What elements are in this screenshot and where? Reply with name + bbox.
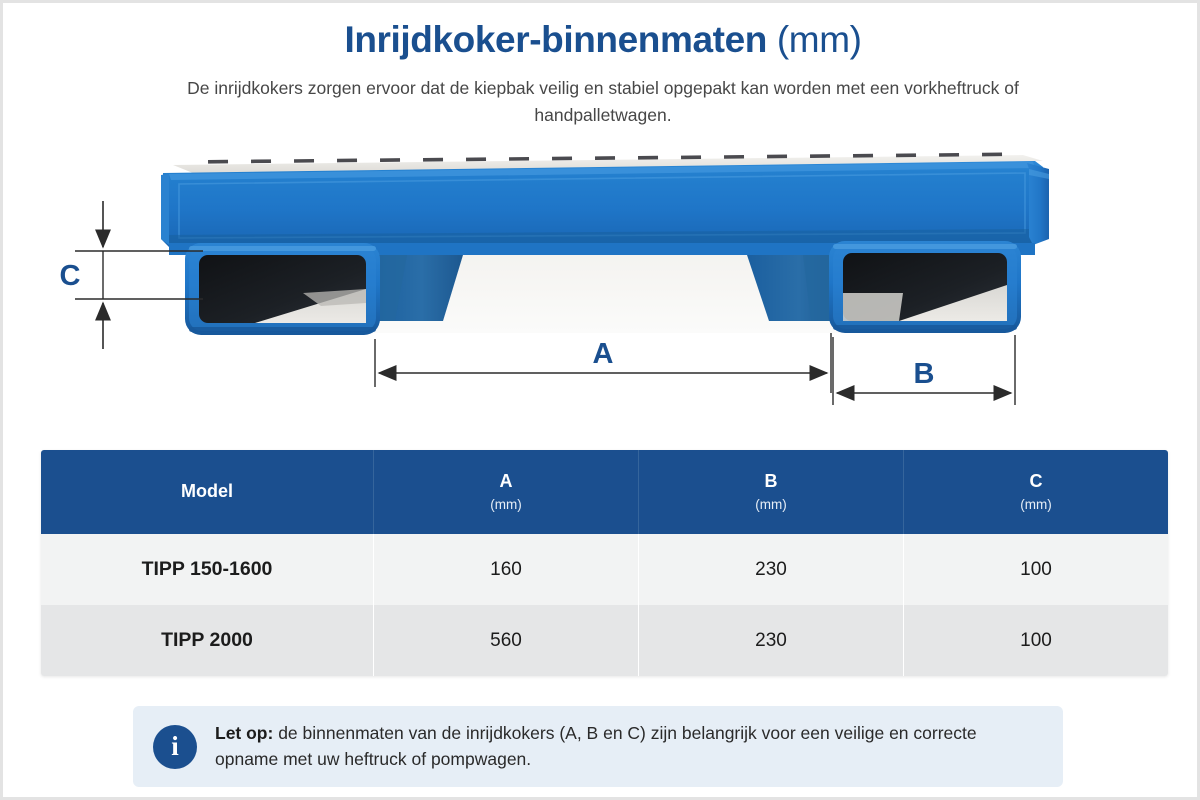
- cell-a: 160: [374, 534, 639, 605]
- page-title: Inrijdkoker-binnenmaten (mm): [3, 17, 1200, 63]
- table-body: TIPP 150-1600 160 230 100 TIPP 2000 560 …: [41, 534, 1168, 676]
- dimension-label-b: B: [914, 358, 935, 390]
- cell-model: TIPP 2000: [41, 605, 374, 676]
- table-header-row: Model A (mm) B (mm): [41, 450, 1168, 534]
- cell-model: TIPP 150-1600: [41, 534, 374, 605]
- info-note-text: Let op: de binnenmaten van de inrijdkoke…: [215, 721, 1041, 772]
- pallet-diagram-svg: C A B: [3, 143, 1200, 433]
- page-title-unit: (mm): [777, 19, 862, 60]
- fork-pocket-right: [829, 241, 1021, 333]
- column-header-a: A (mm): [374, 450, 639, 534]
- dimension-label-a: A: [593, 338, 614, 370]
- table-row: TIPP 2000 560 230 100: [41, 605, 1168, 676]
- infographic-page: Inrijdkoker-binnenmaten (mm) De inrijdko…: [0, 0, 1200, 800]
- cell-a: 560: [374, 605, 639, 676]
- header: Inrijdkoker-binnenmaten (mm) De inrijdko…: [3, 17, 1200, 128]
- dimensions-table: Model A (mm) B (mm): [41, 450, 1168, 676]
- column-header-model-label: Model: [181, 481, 233, 502]
- pallet-diagram: C A B: [3, 143, 1200, 433]
- info-note-body: de binnenmaten van de inrijdkokers (A, B…: [215, 723, 977, 769]
- column-header-c-label: C: [1030, 471, 1043, 492]
- info-icon: i: [153, 725, 197, 769]
- cell-c: 100: [904, 534, 1168, 605]
- table-row: TIPP 150-1600 160 230 100: [41, 534, 1168, 605]
- fork-pocket-left: [185, 243, 380, 335]
- cell-b: 230: [639, 534, 904, 605]
- column-header-b-label: B: [765, 471, 778, 492]
- page-title-main: Inrijdkoker-binnenmaten: [344, 19, 767, 60]
- column-header-c: C (mm): [904, 450, 1168, 534]
- column-header-c-unit: (mm): [1020, 497, 1051, 513]
- column-header-b-unit: (mm): [755, 497, 786, 513]
- page-subtitle: De inrijdkokers zorgen ervoor dat de kie…: [173, 75, 1033, 128]
- column-header-a-label: A: [500, 471, 513, 492]
- column-header-a-unit: (mm): [490, 497, 521, 513]
- dimension-label-c: C: [60, 260, 81, 292]
- table-head: Model A (mm) B (mm): [41, 450, 1168, 534]
- pallet-body: [161, 161, 1049, 247]
- info-note: i Let op: de binnenmaten van de inrijdko…: [133, 706, 1063, 787]
- column-header-model: Model: [41, 450, 374, 534]
- column-header-b: B (mm): [639, 450, 904, 534]
- cell-c: 100: [904, 605, 1168, 676]
- info-note-strong: Let op:: [215, 723, 273, 743]
- cell-b: 230: [639, 605, 904, 676]
